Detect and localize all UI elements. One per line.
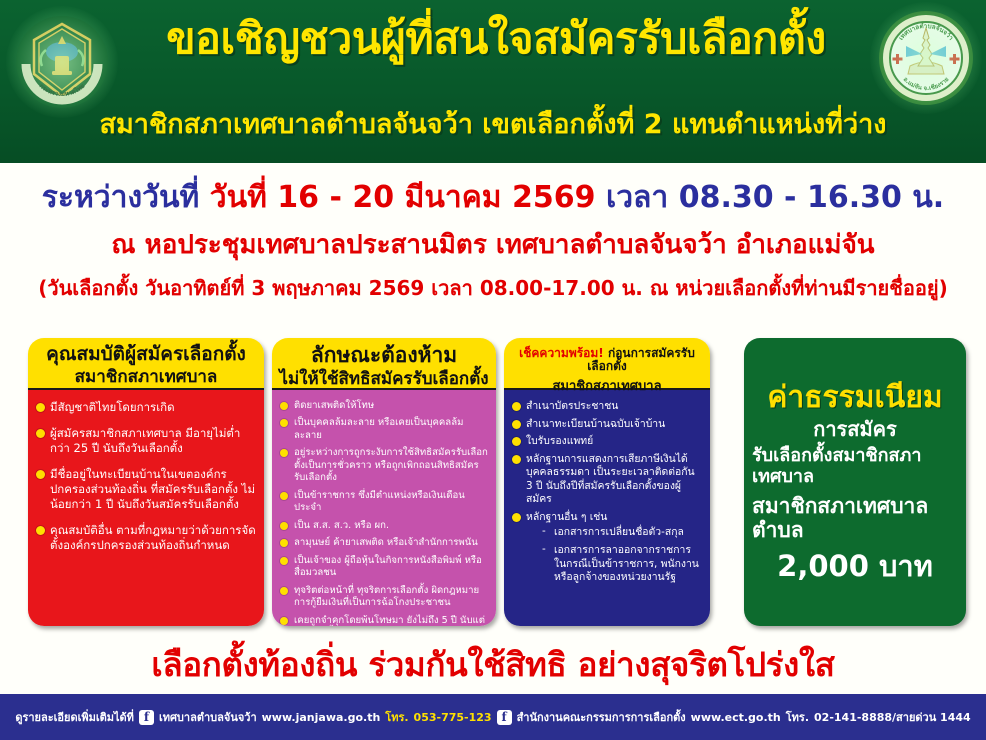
bullet-dot-icon: [280, 557, 288, 565]
fee-line-3: รับเลือกตั้งสมาชิกสภาเทศบาล: [752, 446, 958, 487]
bullet-dot-icon: [280, 449, 288, 457]
list-item-text: หลักฐานการแสดงการเสียภาษีเงินได้บุคคลธรร…: [526, 453, 695, 506]
qualifications-list: มีสัญชาติไทยโดยการเกิด ผู้สมัครสมาชิกสภา…: [36, 400, 256, 553]
page-subtitle: สมาชิกสภาเทศบาลตำบลจันจว้า เขตเลือกตั้งท…: [8, 110, 978, 140]
checklist-emphasis: เช็คความพร้อม!: [519, 346, 604, 360]
list-item: ผู้สมัครสมาชิกสภาเทศบาล มีอายุไม่ต่ำกว่า…: [36, 426, 256, 456]
date-prefix: ระหว่างวันที่: [42, 180, 210, 215]
panel-prohibited-title-line1: ลักษณะต้องห้าม: [276, 344, 492, 368]
panel-fee-body: ค่าธรรมเนียม การสมัคร รับเลือกตั้งสมาชิก…: [744, 338, 966, 626]
list-item-text: หลักฐานอื่น ๆ เช่น: [526, 511, 607, 523]
panel-checklist-body: สำเนาบัตรประชาชน สำเนาทะเบียนบ้านฉบับเจ้…: [504, 390, 710, 626]
checklist-list: สำเนาบัตรประชาชน สำเนาทะเบียนบ้านฉบับเจ้…: [512, 400, 702, 585]
slogan-text: เลือกตั้งท้องถิ่น ร่วมกันใช้สิทธิ อย่างส…: [151, 638, 834, 691]
footer-site-1[interactable]: www.janjawa.go.th: [262, 711, 381, 724]
panel-checklist-title-line1: เช็คความพร้อม! ก่อนการสมัครรับเลือกตั้ง: [508, 347, 706, 374]
list-item: มีชื่ออยู่ในทะเบียนบ้านในเขตองค์กรปกครอง…: [36, 467, 256, 512]
bullet-dot-icon: [36, 403, 45, 412]
panel-prohibited: ลักษณะต้องห้าม ไม่ให้ใช้สิทธิสมัครรับเลื…: [272, 338, 496, 626]
footer-contact-row: ดูรายละเอียดเพิ่มเติมได้ที่ f เทศบาลตำบล…: [15, 708, 970, 726]
bullet-dot-icon: [512, 455, 521, 464]
list-item: เป็นบุคคลล้มละลาย หรือเคยเป็นบุคคลล้มละล…: [280, 417, 488, 442]
list-item: ทุจริตต่อหน้าที่ ทุจริตการเลือกตั้ง ผิดก…: [280, 585, 488, 610]
list-item: เป็นข้าราชการ ซึ่งมีตำแหน่งหรือเงินเดือน…: [280, 490, 488, 515]
panel-fee: ค่าธรรมเนียม การสมัคร รับเลือกตั้งสมาชิก…: [744, 338, 966, 626]
sub-list-item: -เอกสารการเปลี่ยนชื่อตัว-สกุล: [542, 526, 702, 540]
list-item-text: มีชื่ออยู่ในทะเบียนบ้านในเขตองค์กรปกครอง…: [50, 467, 255, 511]
list-item-text: เป็นบุคคลล้มละลาย หรือเคยเป็นบุคคลล้มละล…: [294, 417, 463, 440]
list-item: มีสัญชาติไทยโดยการเกิด: [36, 400, 256, 415]
checklist-title-rest: ก่อนการสมัครรับเลือกตั้ง: [587, 346, 695, 373]
poster-footer: ดูรายละเอียดเพิ่มเติมได้ที่ f เทศบาลตำบล…: [0, 694, 986, 740]
list-item-text: สำเนาบัตรประชาชน: [526, 400, 618, 412]
list-item: สำเนาบัตรประชาชน: [512, 400, 702, 414]
bullet-dot-icon: [36, 526, 45, 535]
facebook-icon[interactable]: f: [139, 710, 154, 725]
bullet-dot-icon: [280, 522, 288, 530]
list-item-text: ผู้สมัครสมาชิกสภาเทศบาล มีอายุไม่ต่ำกว่า…: [50, 426, 240, 455]
list-item: อยู่ระหว่างการถูกระงับการใช้สิทธิสมัครรั…: [280, 447, 488, 484]
footer-lead-text: ดูรายละเอียดเพิ่มเติมได้ที่: [15, 708, 134, 726]
fee-amount: 2,000 บาท: [777, 550, 933, 583]
info-panels-row: คุณสมบัติผู้สมัครเลือกตั้ง สมาชิกสภาเทศบ…: [0, 330, 986, 630]
bullet-dot-icon: [512, 402, 521, 411]
sub-list-item-text: เอกสารการลาออกจากราชการ ในกรณีเป็นข้าราช…: [554, 544, 699, 583]
venue-line: ณ หอประชุมเทศบาลประสานมิตร เทศบาลตำบลจัน…: [0, 231, 986, 260]
list-item-text: คุณสมบัติอื่น ตามที่กฎหมายว่าด้วยการจัดต…: [50, 523, 256, 552]
footer-tel-1-label: โทร.: [385, 708, 408, 726]
list-item-text: เป็นเจ้าของ ผู้ถือหุ้นในกิจการหนังสือพิม…: [294, 555, 482, 578]
dash-icon: -: [542, 525, 546, 539]
election-day-note: (วันเลือกตั้ง วันอาทิตย์ที่ 3 พฤษภาคม 25…: [0, 277, 986, 299]
checklist-sublist: -เอกสารการเปลี่ยนชื่อตัว-สกุล -เอกสารการ…: [542, 526, 702, 585]
list-item: เป็นเจ้าของ ผู้ถือหุ้นในกิจการหนังสือพิม…: [280, 555, 488, 580]
list-item: หลักฐานอื่น ๆ เช่น -เอกสารการเปลี่ยนชื่อ…: [512, 511, 702, 585]
janjawa-municipality-emblem: เทศบาลตำบลจันจว้า อ.แม่จัน จ.เชียงราย: [876, 8, 976, 108]
slogan-band: เลือกตั้งท้องถิ่น ร่วมกันใช้สิทธิ อย่างส…: [0, 634, 986, 694]
fee-line-4: สมาชิกสภาเทศบาลตำบล: [752, 494, 958, 542]
bullet-dot-icon: [280, 492, 288, 500]
panel-checklist-title: เช็คความพร้อม! ก่อนการสมัครรับเลือกตั้ง …: [504, 338, 710, 390]
list-item: เคยถูกจำคุกโดยพ้นโทษมา ยังไม่ถึง 5 ปี นั…: [280, 615, 488, 626]
list-item-text: ทุจริตต่อหน้าที่ ทุจริตการเลือกตั้ง ผิดก…: [294, 585, 479, 608]
panel-qualifications-title-line1: คุณสมบัติผู้สมัครเลือกตั้ง: [32, 344, 260, 365]
panel-prohibited-body: ติดยาเสพติดให้โทษ เป็นบุคคลล้มละลาย หรือ…: [272, 390, 496, 626]
dash-icon: -: [542, 543, 546, 557]
list-item: หลักฐานการแสดงการเสียภาษีเงินได้บุคคลธรร…: [512, 453, 702, 507]
bullet-dot-icon: [280, 587, 288, 595]
bullet-dot-icon: [512, 513, 521, 522]
list-item-text: อยู่ระหว่างการถูกระงับการใช้สิทธิสมัครรั…: [294, 447, 488, 483]
fee-heading: ค่าธรรมเนียม: [767, 381, 942, 415]
date-range: วันที่ 16 - 20 มีนาคม 2569: [210, 180, 596, 215]
poster-header: กระทรวงมหาดไทย: [0, 0, 986, 163]
list-item-text: สำเนาทะเบียนบ้านฉบับเจ้าบ้าน: [526, 418, 665, 430]
bullet-dot-icon: [280, 617, 288, 625]
list-item-text: เคยถูกจำคุกโดยพ้นโทษมา ยังไม่ถึง 5 ปี นั…: [294, 615, 485, 626]
bullet-dot-icon: [512, 437, 521, 446]
list-item-text: เป็นข้าราชการ ซึ่งมีตำแหน่งหรือเงินเดือน…: [294, 490, 465, 513]
list-item: เป็น ส.ส. ส.ว. หรือ ผก.: [280, 520, 488, 532]
ministry-of-interior-emblem: กระทรวงมหาดไทย: [12, 12, 112, 112]
bullet-dot-icon: [280, 402, 288, 410]
list-item-text: เป็น ส.ส. ส.ว. หรือ ผก.: [294, 520, 389, 531]
poster-root: กระทรวงมหาดไทย: [0, 0, 986, 740]
fee-line-2: การสมัคร: [813, 418, 897, 441]
date-details-block: ระหว่างวันที่ วันที่ 16 - 20 มีนาคม 2569…: [0, 163, 986, 325]
list-item-text: ติดยาเสพติดให้โทษ: [294, 400, 374, 411]
list-item-text: มีสัญชาติไทยโดยการเกิด: [50, 400, 175, 414]
panel-qualifications-body: มีสัญชาติไทยโดยการเกิด ผู้สมัครสมาชิกสภา…: [28, 390, 264, 626]
list-item-text: ใบรับรองแพทย์: [526, 435, 593, 447]
emblem-glow-left: [6, 6, 118, 118]
facebook-icon[interactable]: f: [497, 710, 512, 725]
list-item-text: ลามุนษย์ ค้ายาเสพติด หรือเจ้าสำนักการพนั…: [294, 537, 478, 548]
date-time-range: เวลา 08.30 - 16.30 น.: [596, 180, 945, 215]
list-item: ใบรับรองแพทย์: [512, 435, 702, 449]
bullet-dot-icon: [280, 539, 288, 547]
panel-prohibited-title: ลักษณะต้องห้าม ไม่ให้ใช้สิทธิสมัครรับเลื…: [272, 338, 496, 390]
bullet-dot-icon: [36, 470, 45, 479]
emblem-glow-right: [870, 2, 982, 114]
panel-qualifications: คุณสมบัติผู้สมัครเลือกตั้ง สมาชิกสภาเทศบ…: [28, 338, 264, 626]
list-item: สำเนาทะเบียนบ้านฉบับเจ้าบ้าน: [512, 418, 702, 432]
footer-site-2[interactable]: www.ect.go.th: [691, 711, 781, 724]
date-line-primary: ระหว่างวันที่ วันที่ 16 - 20 มีนาคม 2569…: [0, 181, 986, 214]
footer-tel-1[interactable]: 053-775-123: [414, 711, 492, 724]
list-item: ลามุนษย์ ค้ายาเสพติด หรือเจ้าสำนักการพนั…: [280, 537, 488, 549]
list-item: ติดยาเสพติดให้โทษ: [280, 400, 488, 412]
footer-org-2: สำนักงานคณะกรรมการการเลือกตั้ง: [517, 708, 686, 726]
prohibited-list: ติดยาเสพติดให้โทษ เป็นบุคคลล้มละลาย หรือ…: [280, 400, 488, 626]
footer-tel-2[interactable]: 02-141-8888/สายด่วน 1444: [814, 708, 971, 726]
sub-list-item-text: เอกสารการเปลี่ยนชื่อตัว-สกุล: [554, 526, 684, 538]
bullet-dot-icon: [36, 429, 45, 438]
footer-org-1: เทศบาลตำบลจันจว้า: [159, 708, 257, 726]
sub-list-item: -เอกสารการลาออกจากราชการ ในกรณีเป็นข้ารา…: [542, 544, 702, 585]
panel-prohibited-title-line2: ไม่ให้ใช้สิทธิสมัครรับเลือกตั้ง: [276, 370, 492, 390]
panel-checklist: เช็คความพร้อม! ก่อนการสมัครรับเลือกตั้ง …: [504, 338, 710, 626]
page-title: ขอเชิญชวนผู้ที่สนใจสมัครรับเลือกตั้ง: [112, 16, 880, 62]
panel-qualifications-title: คุณสมบัติผู้สมัครเลือกตั้ง สมาชิกสภาเทศบ…: [28, 338, 264, 390]
bullet-dot-icon: [280, 419, 288, 427]
list-item: คุณสมบัติอื่น ตามที่กฎหมายว่าด้วยการจัดต…: [36, 523, 256, 553]
footer-tel-2-label: โทร.: [786, 708, 809, 726]
panel-qualifications-title-line2: สมาชิกสภาเทศบาล: [32, 368, 260, 388]
bullet-dot-icon: [512, 420, 521, 429]
